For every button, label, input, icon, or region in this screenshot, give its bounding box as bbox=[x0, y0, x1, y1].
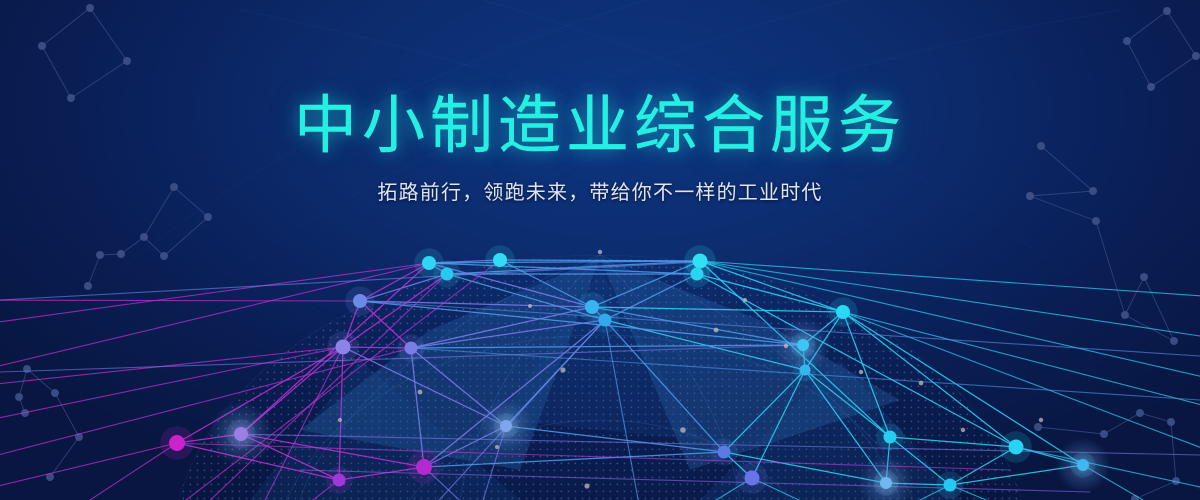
dust-particle bbox=[338, 418, 342, 422]
dust-particle bbox=[598, 250, 602, 254]
network-node bbox=[718, 446, 731, 459]
dust-particle bbox=[584, 483, 589, 488]
network-node bbox=[599, 314, 612, 327]
network-node bbox=[880, 477, 892, 489]
dust-particle bbox=[784, 344, 788, 348]
network-node bbox=[944, 479, 957, 492]
network-node bbox=[422, 256, 436, 270]
dust-particle bbox=[1039, 418, 1043, 422]
hero-text-block: 中小制造业综合服务 拓路前行，领跑未来，带给你不一样的工业时代 bbox=[0, 92, 1200, 205]
network-node bbox=[1077, 459, 1089, 471]
network-node bbox=[493, 253, 507, 267]
network-node bbox=[500, 420, 512, 432]
page-title: 中小制造业综合服务 bbox=[0, 92, 1200, 160]
network-node bbox=[797, 339, 809, 351]
network-node bbox=[691, 268, 704, 281]
network-edge bbox=[0, 443, 177, 500]
network-node bbox=[333, 474, 346, 487]
network-node bbox=[234, 427, 248, 441]
network-node bbox=[585, 300, 599, 314]
network-node bbox=[800, 365, 811, 376]
dust-particle bbox=[528, 304, 532, 308]
network-edge bbox=[0, 300, 360, 301]
dust-particle bbox=[680, 427, 686, 433]
dust-particle bbox=[714, 328, 719, 333]
network-node bbox=[353, 294, 367, 308]
network-node bbox=[884, 431, 897, 444]
network-dome-graphic bbox=[0, 0, 1200, 500]
dust-particle bbox=[743, 298, 747, 302]
dust-particle bbox=[919, 381, 924, 386]
dust-particle bbox=[560, 367, 565, 372]
network-node bbox=[441, 268, 454, 281]
dust-particle bbox=[961, 428, 965, 432]
network-node bbox=[693, 254, 708, 269]
page-subtitle: 拓路前行，领跑未来，带给你不一样的工业时代 bbox=[0, 176, 1200, 205]
network-node bbox=[745, 471, 760, 486]
network-node bbox=[336, 340, 351, 355]
network-node bbox=[1009, 440, 1024, 455]
banner-hero: 中小制造业综合服务 拓路前行，领跑未来，带给你不一样的工业时代 bbox=[0, 0, 1200, 500]
network-node bbox=[836, 305, 850, 319]
network-node bbox=[169, 435, 185, 451]
dust-particle bbox=[859, 370, 863, 374]
dust-particle bbox=[418, 390, 423, 395]
network-node bbox=[416, 459, 432, 475]
network-node bbox=[405, 342, 418, 355]
dust-particle bbox=[495, 445, 499, 449]
